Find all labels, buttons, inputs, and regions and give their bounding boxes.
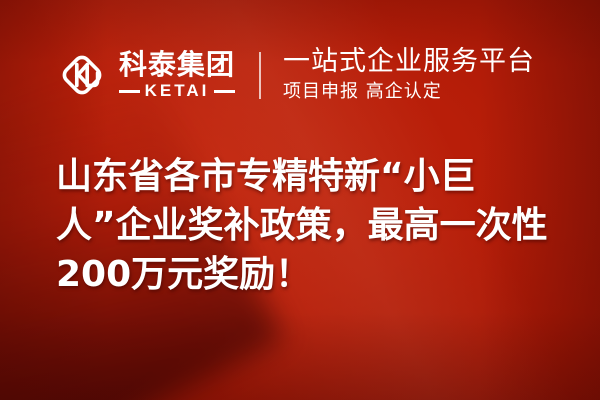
brand-name-en-row: KETAI bbox=[119, 82, 235, 100]
tagline-secondary: 项目申报 高企认定 bbox=[283, 80, 535, 104]
brand-rule-right bbox=[214, 90, 235, 93]
header-divider bbox=[259, 52, 261, 99]
promo-banner: 科泰集团 KETAI 一站式企业服务平台 项目申报 高企认定 山东省各市专精特新… bbox=[0, 0, 600, 400]
tagline-primary: 一站式企业服务平台 bbox=[283, 46, 535, 78]
tagline-block: 一站式企业服务平台 项目申报 高企认定 bbox=[283, 46, 535, 104]
banner-header: 科泰集团 KETAI 一站式企业服务平台 项目申报 高企认定 bbox=[0, 36, 600, 114]
ketai-diamond-monogram-logo-icon bbox=[56, 49, 108, 101]
banner-headline: 山东省各市专精特新“小巨人”企业奖补政策，最高一次性200万元奖励！ bbox=[56, 152, 556, 299]
brand-name-en: KETAI bbox=[140, 82, 215, 100]
brand-lockup[interactable]: 科泰集团 KETAI bbox=[56, 49, 235, 101]
brand-rule-left bbox=[119, 90, 140, 93]
brand-name-cn: 科泰集团 bbox=[119, 50, 235, 80]
brand-text: 科泰集团 KETAI bbox=[119, 50, 235, 100]
